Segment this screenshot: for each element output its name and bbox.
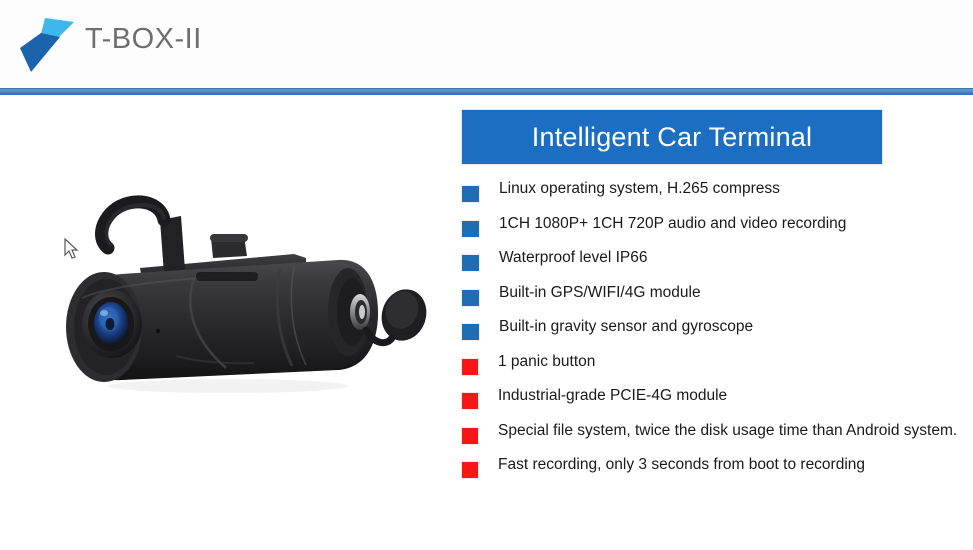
title-banner: Intelligent Car Terminal (462, 110, 882, 164)
page-title: T-BOX-II (85, 23, 202, 56)
tbox-logo-icon (14, 16, 76, 74)
list-item: Built-in GPS/WIFI/4G module (462, 284, 967, 319)
feature-text: Waterproof level IP66 (499, 249, 647, 266)
header-divider (0, 88, 973, 95)
feature-text: Linux operating system, H.265 compress (499, 180, 780, 197)
list-item: Linux operating system, H.265 compress (462, 180, 967, 215)
content-panel: Intelligent Car Terminal Linux operating… (462, 110, 967, 507)
bullet-square-red-icon (462, 359, 478, 375)
page-header: T-BOX-II (0, 0, 973, 88)
list-item: 1CH 1080P+ 1CH 720P audio and video reco… (462, 215, 967, 250)
bullet-square-red-icon (462, 462, 478, 478)
mouse-pointer-icon (64, 238, 80, 260)
bullet-square-blue-icon (462, 255, 479, 271)
t-box-dashcam-photo (48, 190, 438, 420)
list-item: 1 panic button (462, 353, 967, 388)
list-item: Special file system, twice the disk usag… (462, 422, 967, 457)
bullet-square-blue-icon (462, 324, 479, 340)
list-item: Fast recording, only 3 seconds from boot… (462, 456, 967, 491)
feature-list: Linux operating system, H.265 compress 1… (462, 180, 967, 491)
list-item: Waterproof level IP66 (462, 249, 967, 284)
list-item: Industrial-grade PCIE-4G module (462, 387, 967, 422)
bullet-square-blue-icon (462, 290, 479, 306)
feature-text: Industrial-grade PCIE-4G module (498, 387, 727, 404)
feature-text: 1 panic button (498, 353, 595, 370)
bullet-square-red-icon (462, 428, 478, 444)
feature-text: 1CH 1080P+ 1CH 720P audio and video reco… (499, 215, 846, 232)
slide-canvas: T-BOX-II (0, 0, 973, 550)
feature-text: Special file system, twice the disk usag… (498, 422, 957, 439)
feature-text: Built-in gravity sensor and gyroscope (499, 318, 753, 335)
list-item: Built-in gravity sensor and gyroscope (462, 318, 967, 353)
bullet-square-blue-icon (462, 221, 479, 237)
bullet-square-blue-icon (462, 186, 479, 202)
product-image-panel (0, 95, 455, 550)
bullet-square-red-icon (462, 393, 478, 409)
feature-text: Fast recording, only 3 seconds from boot… (498, 456, 865, 473)
title-banner-text: Intelligent Car Terminal (532, 122, 812, 153)
feature-text: Built-in GPS/WIFI/4G module (499, 284, 701, 301)
